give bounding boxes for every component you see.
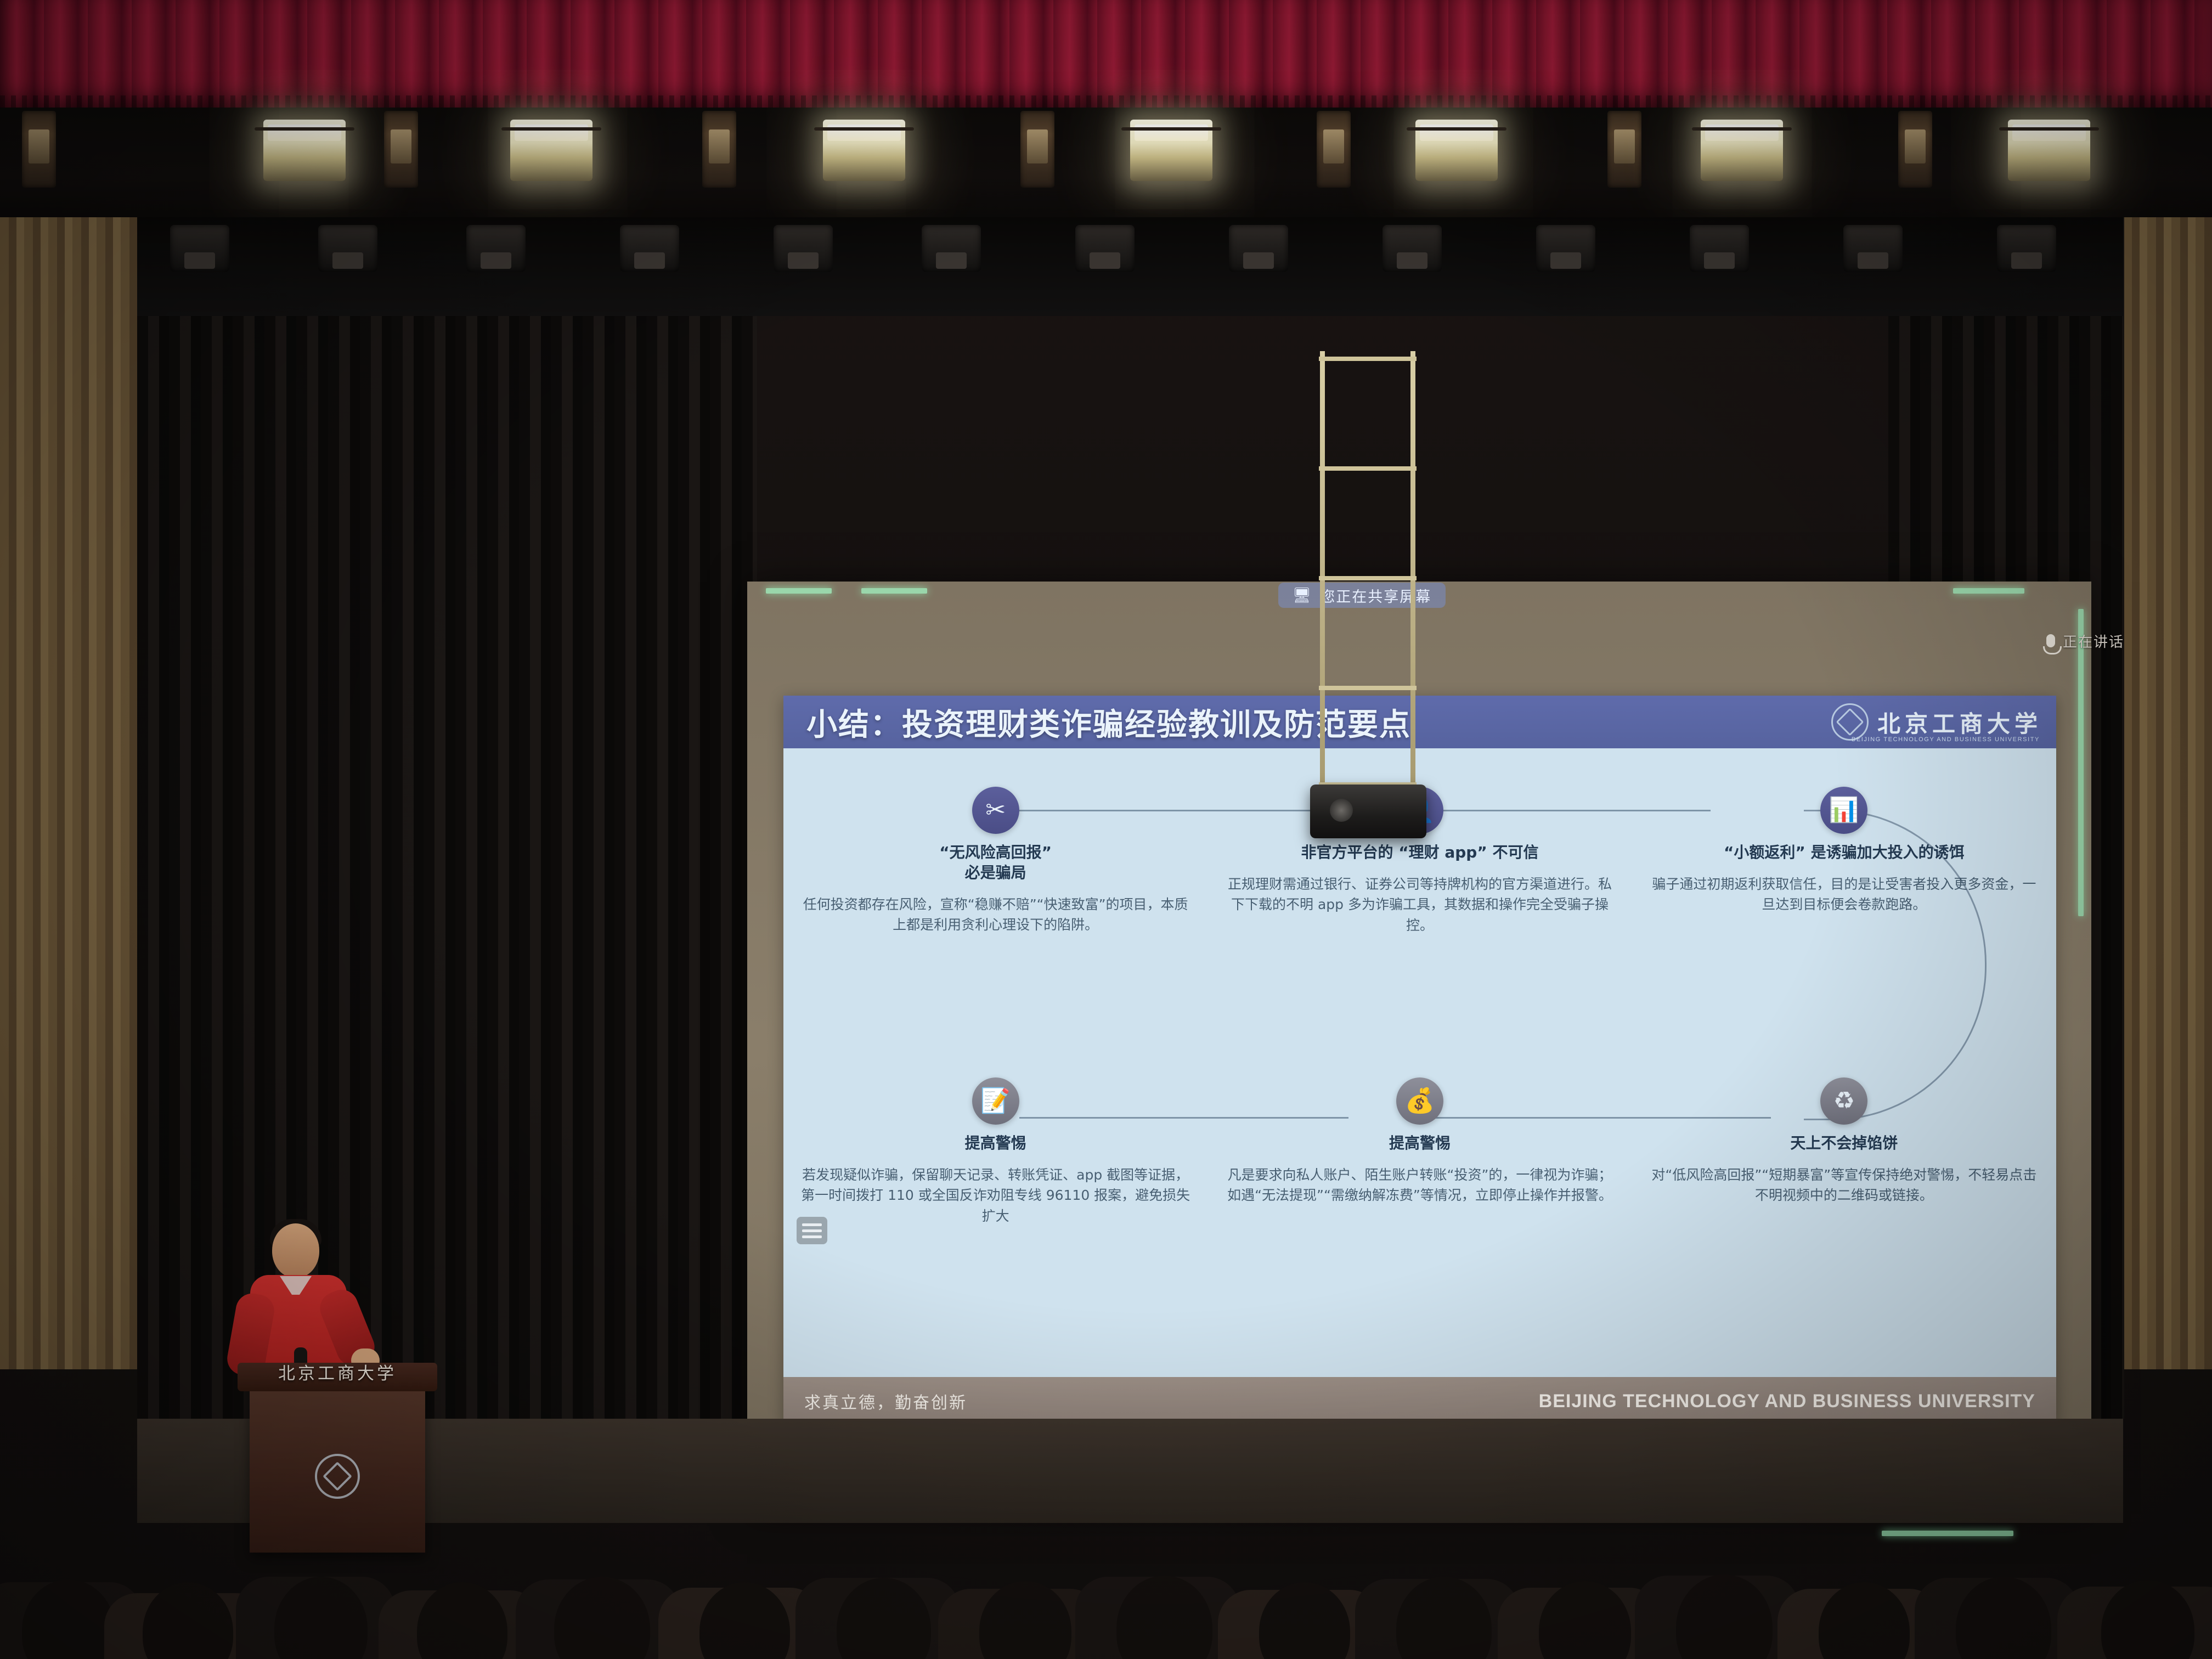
slide-header: 小结：投资理财类诈骗经验教训及防范要点 北京工商大学 BEIJING TECHN…	[783, 696, 2056, 748]
auditorium-scene: 小结：投资理财类诈骗经验教训及防范要点 北京工商大学 BEIJING TECHN…	[0, 0, 2212, 1659]
card-heading: “小额返利” 是诱骗加大投入的诱饵	[1724, 843, 1965, 863]
green-laser-marker	[2078, 609, 2084, 916]
stage-floodlight	[1415, 120, 1498, 181]
card-body: 正规理财需通过银行、证券公司等持牌机构的官方渠道进行。私下下载的不明 app 多…	[1222, 874, 1617, 936]
green-laser-marker	[1953, 588, 2024, 594]
card-body: 任何投资都存在风险，宣称“稳赚不赔”“快速致富”的项目，本质上都是利用贪利心理设…	[798, 894, 1193, 935]
stage-floodlight	[1701, 120, 1783, 181]
card-body: 若发现疑似诈骗，保留聊天记录、转账凭证、app 截图等证据，第一时间拨打 110…	[798, 1165, 1193, 1227]
brand-name-en: BEIJING TECHNOLOGY AND BUSINESS UNIVERSI…	[1852, 736, 2040, 743]
overhead-masking	[137, 217, 2123, 316]
red-curtain-valance	[0, 0, 2212, 110]
lectern-label: 北京工商大学	[238, 1359, 437, 1384]
university-seal-icon	[1831, 703, 1869, 741]
stage-floodlight	[823, 120, 905, 181]
stage-floodlight	[2008, 120, 2090, 181]
stage-drape-left	[137, 217, 757, 1419]
card-body: 骗子通过初期返利获取信任，目的是让受害者投入更多资金，一旦达到目标便会卷款跑路。	[1646, 874, 2042, 915]
stage-lantern	[384, 111, 418, 188]
card-body: 对“低风险高回报”“短期暴富”等宣传保持绝对警惕，不轻易点击不明视频中的二维码或…	[1646, 1165, 2042, 1206]
stage-lantern	[1898, 111, 1932, 188]
ceiling-projector	[1310, 785, 1426, 838]
card-heading: 天上不会掉馅饼	[1790, 1133, 1898, 1154]
card-heading: “无风险高回报”必是骗局	[939, 843, 1052, 883]
footer-university-name: BEIJING TECHNOLOGY AND BUSINESS UNIVERSI…	[1539, 1391, 2035, 1412]
recycle-group-icon: ♻	[1820, 1077, 1867, 1125]
stage-floodlight	[263, 120, 346, 181]
card-heading: 提高警惕	[1389, 1133, 1451, 1154]
stage-lantern	[1020, 111, 1054, 188]
footer-motto: 求真立德，勤奋创新	[804, 1389, 967, 1413]
slide-card: ✂ “无风险高回报”必是骗局 任何投资都存在风险，宣称“稳赚不赔”“快速致富”的…	[783, 787, 1207, 935]
stage-lantern	[702, 111, 736, 188]
card-heading: 非官方平台的 “理财 app” 不可信	[1301, 843, 1538, 863]
slide-body: ✂ “无风险高回报”必是骗局 任何投资都存在风险，宣称“稳赚不赔”“快速致富”的…	[783, 748, 2056, 1368]
stage-floodlight	[1130, 120, 1212, 181]
projector-truss	[1316, 351, 1420, 790]
stage-lantern	[1317, 111, 1351, 188]
slide-card: ♻ 天上不会掉馅饼 对“低风险高回报”“短期暴富”等宣传保持绝对警惕，不轻易点击…	[1632, 1077, 2056, 1226]
card-heading: 提高警惕	[965, 1133, 1026, 1154]
slide-card: 📊 “小额返利” 是诱骗加大投入的诱饵 骗子通过初期返利获取信任，目的是让受害者…	[1632, 787, 2056, 935]
stage-lantern	[22, 111, 56, 188]
university-brand: 北京工商大学	[1831, 703, 2042, 741]
speaking-label: 正在讲话	[2063, 631, 2124, 651]
card-body: 凡是要求向私人账户、陌生账户转账“投资”的，一律视为诈骗；如遇“无法提现”“需缴…	[1222, 1165, 1617, 1206]
tools-cross-icon: ✂	[972, 787, 1019, 834]
lighting-truss-zone	[0, 108, 2212, 223]
audience	[0, 1478, 2212, 1659]
presenter-head	[272, 1223, 319, 1278]
slide-footer: 求真立德，勤奋创新 BEIJING TECHNOLOGY AND BUSINES…	[783, 1377, 2056, 1425]
document-edit-icon: 📝	[972, 1077, 1019, 1125]
bar-chart-icon: 📊	[1820, 787, 1867, 834]
brand-name-cn: 北京工商大学	[1877, 706, 2042, 739]
list-menu-icon[interactable]	[797, 1217, 827, 1244]
speaking-indicator: 正在讲话	[2046, 629, 2124, 653]
stage-lantern	[1607, 111, 1641, 188]
stage-floodlight	[510, 120, 592, 181]
screen-share-icon: 🖥	[1293, 586, 1312, 604]
microphone-icon	[2046, 634, 2055, 647]
lectern-top: 北京工商大学	[238, 1363, 437, 1391]
slide-card: 💰 提高警惕 凡是要求向私人账户、陌生账户转账“投资”的，一律视为诈骗；如遇“无…	[1207, 1077, 1632, 1226]
slide-row-bottom: 📝 提高警惕 若发现疑似诈骗，保留聊天记录、转账凭证、app 截图等证据，第一时…	[783, 1077, 2056, 1226]
green-laser-marker	[766, 588, 832, 594]
money-bag-icon: 💰	[1396, 1077, 1443, 1125]
green-laser-marker	[861, 588, 927, 594]
slide-card: 📝 提高警惕 若发现疑似诈骗，保留聊天记录、转账凭证、app 截图等证据，第一时…	[783, 1077, 1207, 1226]
